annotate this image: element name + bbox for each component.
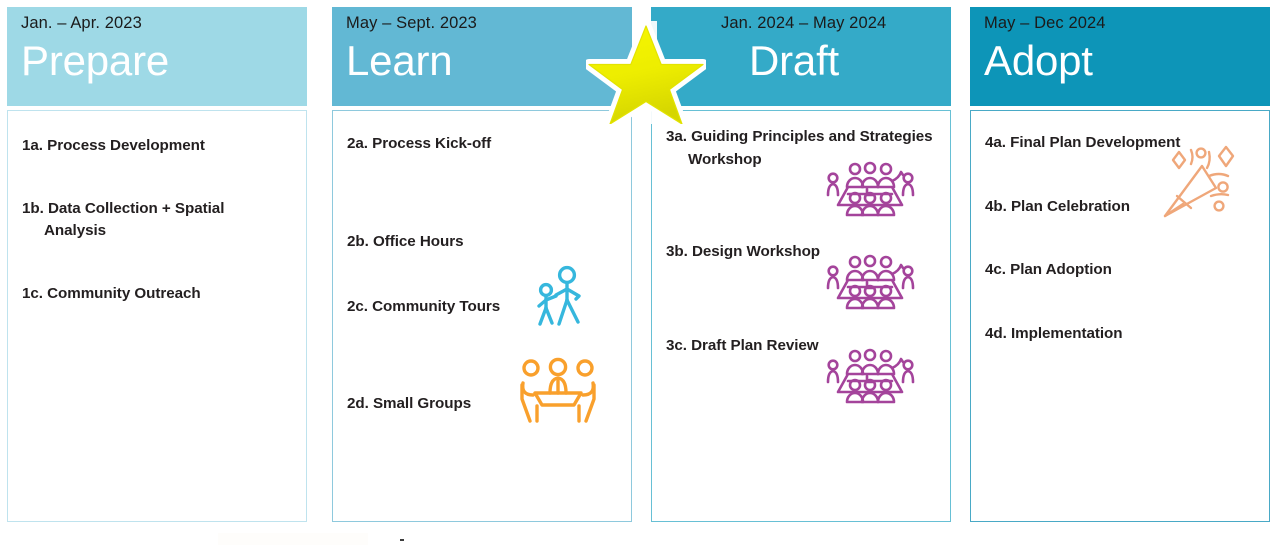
phase-column-adopt[interactable]: May – Dec 2024 Adopt 4a. Final Plan Deve… — [970, 7, 1270, 522]
phase-body-prepare: 1a. Process Development 1b. Data Collect… — [7, 110, 307, 522]
task-item[interactable]: 2a. Process Kick-off — [347, 133, 619, 156]
task-item[interactable]: 4d. Implementation — [985, 323, 1257, 346]
task-label: 4c. Plan Adoption — [985, 259, 1257, 282]
project-timeline-diagram: Jan. – Apr. 2023 Prepare 1a. Process Dev… — [0, 0, 1278, 545]
cut-off-text-artifact — [400, 539, 404, 541]
phase-body-adopt: 4a. Final Plan Development 4b. Plan Cele… — [970, 110, 1270, 522]
task-label: 1a. Process Development — [22, 135, 294, 158]
star-current-phase-marker[interactable] — [586, 21, 706, 124]
walking-tour-icon — [531, 266, 591, 328]
task-label: 2b. Office Hours — [347, 231, 619, 254]
meeting-icon — [822, 348, 916, 406]
meeting-icon — [822, 254, 916, 312]
celebration-icon — [1157, 144, 1239, 224]
phase-body-learn: 2a. Process Kick-off 2b. Office Hours 2c… — [332, 110, 632, 522]
phase-column-prepare[interactable]: Jan. – Apr. 2023 Prepare 1a. Process Dev… — [7, 7, 307, 522]
phase-name: Adopt — [984, 35, 1270, 87]
task-label: 4d. Implementation — [985, 323, 1257, 346]
task-item[interactable]: 1b. Data Collection + Spatial Analysis — [22, 198, 294, 243]
task-label: 1b. Data Collection + Spatial — [22, 198, 294, 221]
phase-body-draft: 3a. Guiding Principles and Strategies Wo… — [651, 110, 951, 522]
task-label: 3a. Guiding Principles and Strategies — [666, 126, 946, 149]
task-item[interactable]: 1c. Community Outreach — [22, 283, 294, 306]
task-label: 1c. Community Outreach — [22, 283, 294, 306]
phase-header-prepare: Jan. – Apr. 2023 Prepare — [7, 7, 307, 106]
small-group-table-icon — [519, 359, 597, 423]
task-label: 2a. Process Kick-off — [347, 133, 619, 156]
task-item[interactable]: 2b. Office Hours — [347, 231, 619, 254]
phase-header-adopt: May – Dec 2024 Adopt — [970, 7, 1270, 106]
task-item[interactable]: 1a. Process Development — [22, 135, 294, 158]
phase-name: Draft — [665, 35, 951, 87]
task-label-continuation: Analysis — [22, 220, 294, 243]
cut-off-element-artifact — [218, 533, 368, 545]
task-item[interactable]: 4c. Plan Adoption — [985, 259, 1257, 282]
phase-dates: Jan. – Apr. 2023 — [21, 13, 307, 33]
phase-dates: May – Dec 2024 — [984, 13, 1270, 33]
meeting-icon — [822, 161, 916, 219]
phase-name: Prepare — [21, 35, 307, 87]
phase-dates: Jan. 2024 – May 2024 — [665, 13, 951, 33]
